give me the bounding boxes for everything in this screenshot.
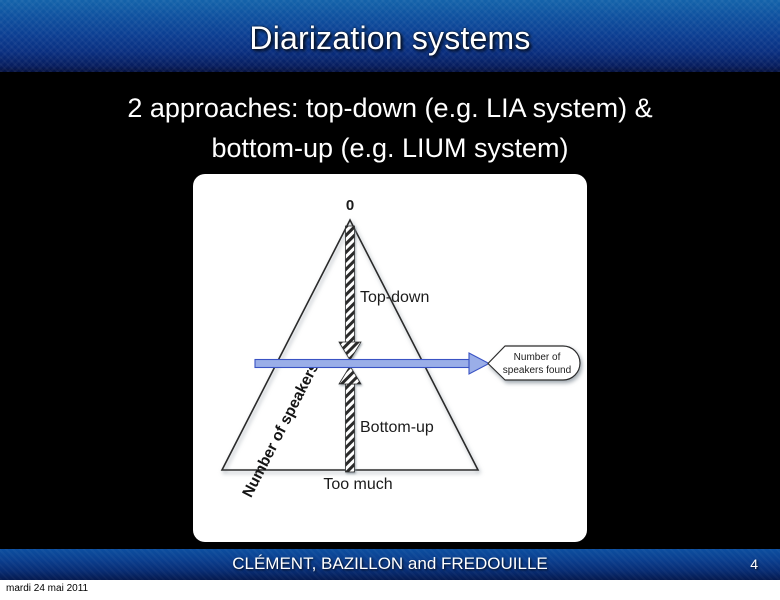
diagram-panel: 0 Number of speakers Top-down Bottom-up … — [193, 174, 587, 542]
subtitle-line-2: bottom-up (e.g. LIUM system) — [40, 128, 740, 168]
footer-page-number: 4 — [750, 556, 758, 572]
top-down-label: Top-down — [360, 289, 429, 306]
slide: Diarization systems 2 approaches: top-do… — [0, 0, 780, 600]
axis-label-number-of-speakers: Number of speakers — [239, 360, 322, 500]
page-title: Diarization systems — [0, 20, 780, 57]
speakers-found-arrow — [255, 353, 489, 374]
callout-line-2: speakers found — [503, 365, 571, 376]
bottom-strip — [0, 580, 780, 600]
callout-line-1: Number of — [514, 352, 561, 363]
bottom-up-arrow — [339, 366, 361, 472]
slide-title-bar: Diarization systems — [0, 0, 780, 72]
apex-label: 0 — [346, 197, 354, 214]
diagram-svg: 0 Number of speakers Top-down Bottom-up … — [193, 174, 587, 542]
presentation-date: mardi 24 mai 2011 — [6, 583, 88, 594]
slide-subtitle: 2 approaches: top-down (e.g. LIA system)… — [40, 88, 740, 168]
top-down-arrow — [339, 226, 361, 360]
slide-footer-bar: CLÉMENT, BAZILLON and FREDOUILLE 4 — [0, 549, 780, 580]
bottom-up-label: Bottom-up — [360, 419, 434, 436]
footer-authors: CLÉMENT, BAZILLON and FREDOUILLE — [0, 554, 780, 574]
base-label-too-much: Too much — [323, 476, 392, 493]
subtitle-line-1: 2 approaches: top-down (e.g. LIA system)… — [127, 93, 652, 123]
